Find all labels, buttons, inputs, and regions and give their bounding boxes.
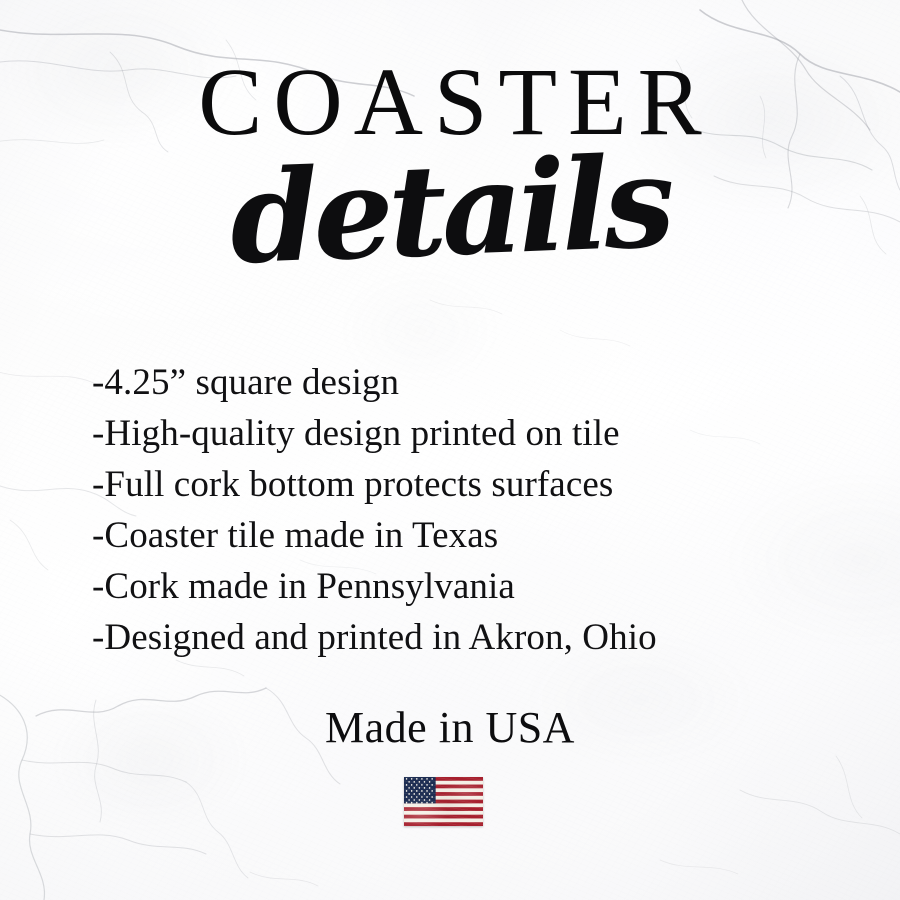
coaster-details-list: -4.25” square design -High-quality desig…: [92, 357, 832, 663]
usa-flag-icon: [404, 777, 483, 826]
list-item: -Designed and printed in Akron, Ohio: [92, 612, 832, 663]
list-item: -Cork made in Pennsylvania: [92, 561, 832, 612]
made-in-usa-label: Made in USA: [0, 706, 900, 750]
list-item: -4.25” square design: [92, 357, 832, 408]
list-item: -Full cork bottom protects surfaces: [92, 459, 832, 510]
list-item: -High-quality design printed on tile: [92, 408, 832, 459]
list-item: -Coaster tile made in Texas: [92, 510, 832, 561]
coaster-details-poster: COASTER details -4.25” square design -Hi…: [0, 0, 900, 900]
